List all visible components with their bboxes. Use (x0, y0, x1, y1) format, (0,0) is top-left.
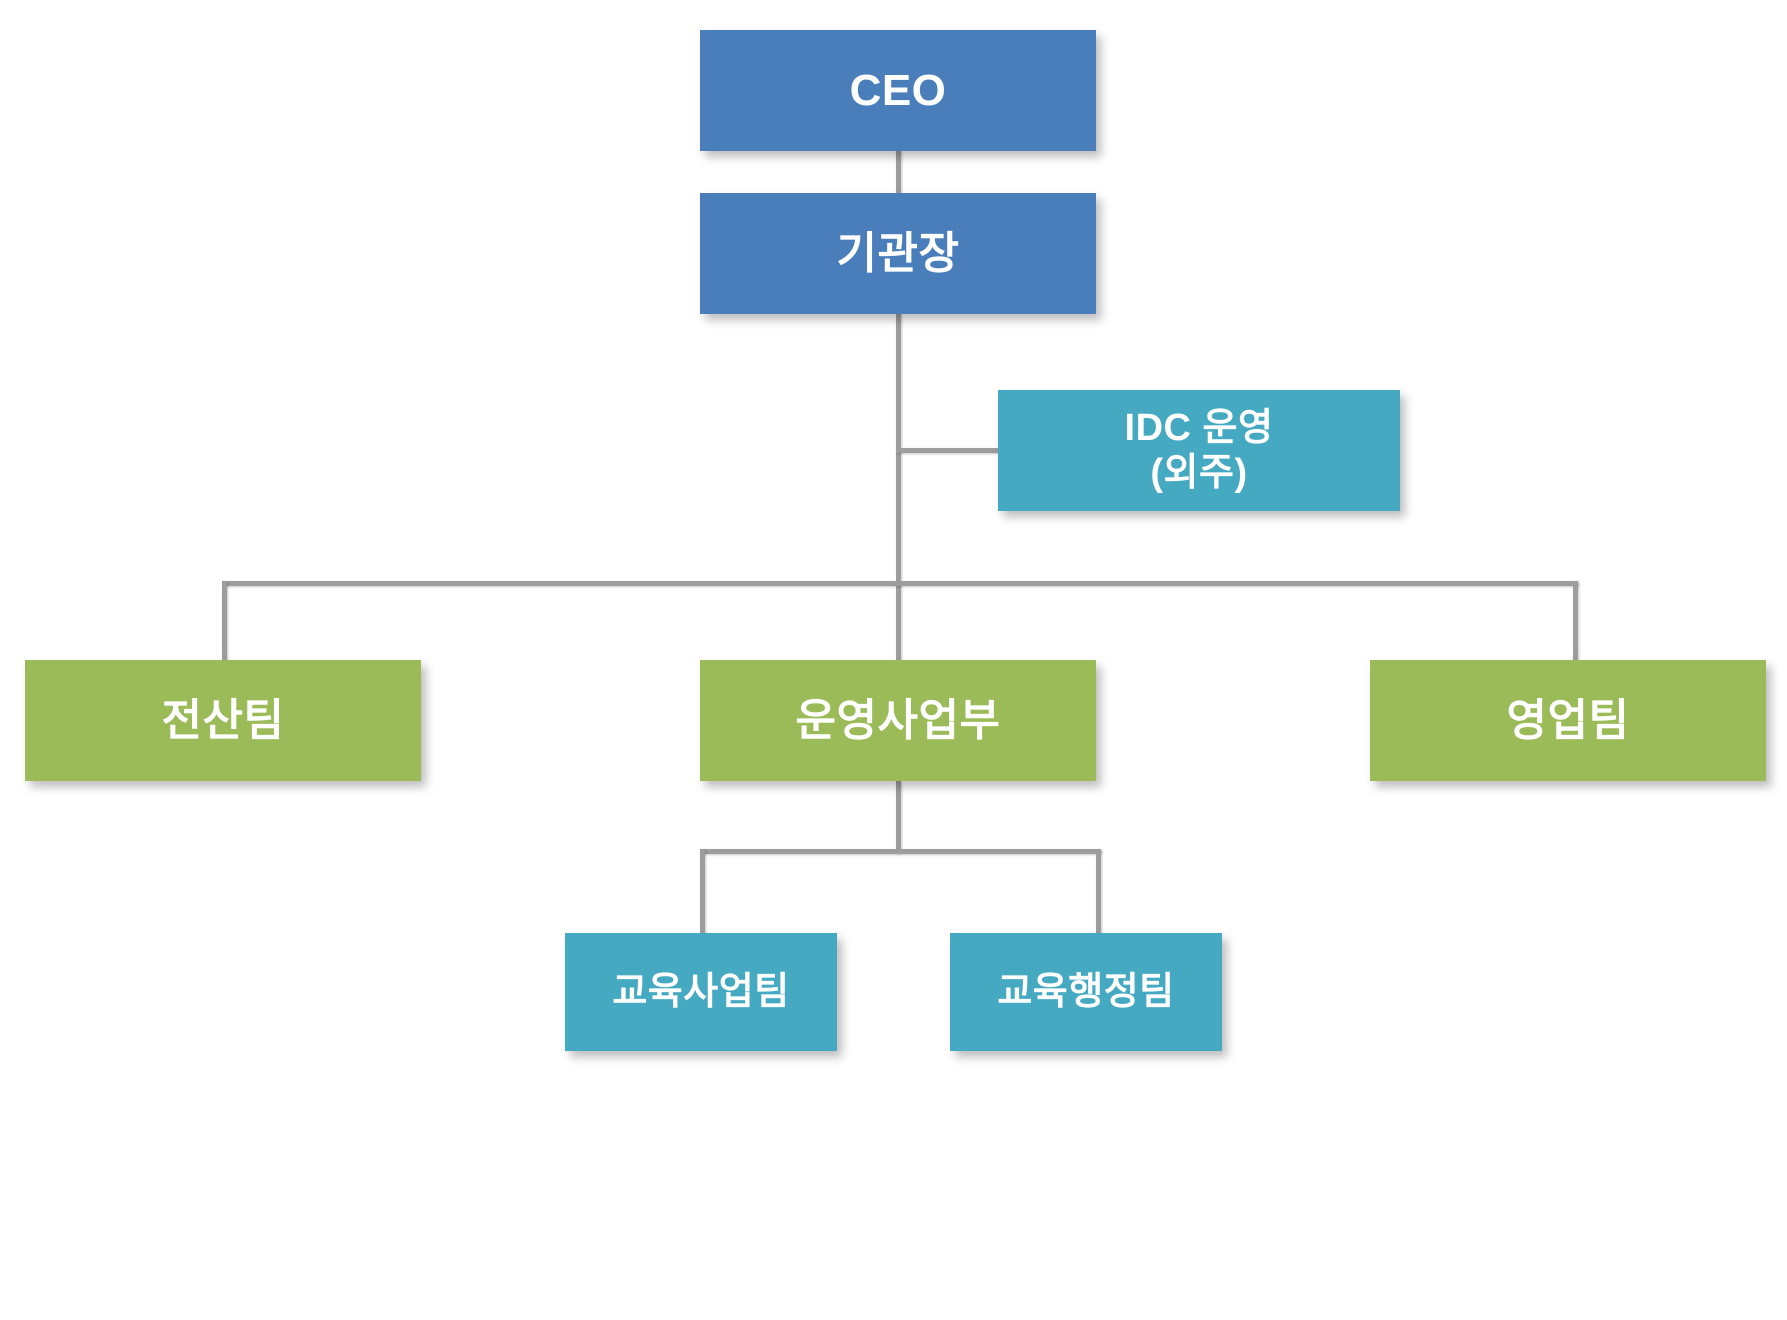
org-node-it-team[interactable]: 전산팀 (25, 660, 421, 781)
connector-ops-bus (700, 849, 1101, 854)
org-node-head[interactable]: 기관장 (700, 193, 1096, 314)
org-node-sales-team-label: 영업팀 (1507, 695, 1630, 747)
org-node-education-business-team-label: 교육사업팀 (612, 970, 789, 1015)
org-node-it-team-label: 전산팀 (162, 695, 285, 747)
org-node-education-business-team[interactable]: 교육사업팀 (565, 933, 837, 1051)
connector-ops-bus-to-eduadmin (1096, 849, 1101, 937)
org-node-education-admin-team[interactable]: 교육행정팀 (950, 933, 1222, 1051)
org-node-operations-division-label: 운영사업부 (796, 695, 1001, 747)
connector-trunk-to-idc (896, 448, 1000, 453)
connector-ops-down (896, 781, 901, 853)
org-node-head-label: 기관장 (837, 228, 960, 280)
connector-division-bus (222, 581, 1578, 586)
connector-ops-bus-to-edubiz (700, 849, 705, 937)
org-node-operations-division[interactable]: 운영사업부 (700, 660, 1096, 781)
org-node-idc-label-primary: IDC 운영 (1125, 406, 1274, 451)
connector-bus-to-sales (1573, 581, 1578, 664)
org-chart-canvas: CEO 기관장 IDC 운영 (외주) 전산팀 운영사업부 영업팀 교육사업팀 … (0, 0, 1787, 1320)
connector-bus-to-it (222, 581, 227, 664)
org-node-idc-label-secondary: (외주) (1125, 451, 1274, 496)
org-node-ceo-label: CEO (850, 65, 947, 117)
org-node-ceo[interactable]: CEO (700, 30, 1096, 151)
connector-head-trunk (896, 313, 901, 665)
org-node-education-admin-team-label: 교육행정팀 (997, 970, 1174, 1015)
connector-ceo-to-head (896, 150, 901, 195)
org-node-sales-team[interactable]: 영업팀 (1370, 660, 1766, 781)
org-node-idc-operations[interactable]: IDC 운영 (외주) (998, 390, 1400, 511)
